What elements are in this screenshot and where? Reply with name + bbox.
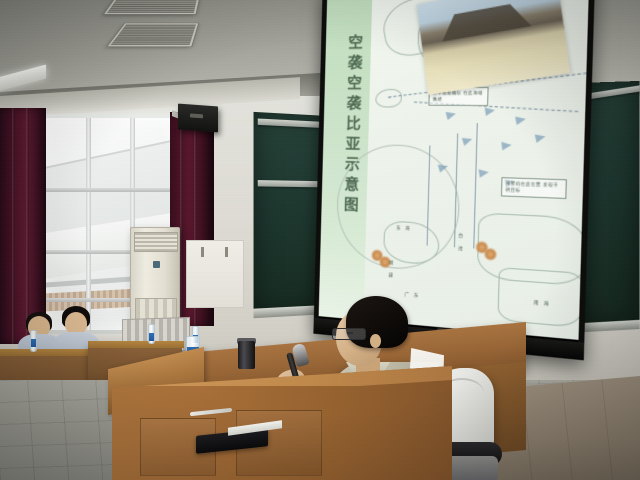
map-label: 福 建: [387, 260, 394, 279]
plane-icon: [479, 168, 490, 178]
plane-icon: [515, 115, 527, 125]
lecture-hall-photo: 空袭空袭比亚示意图: [0, 0, 640, 480]
map-label: 台 湾: [456, 233, 463, 253]
speaker-badge: [190, 113, 203, 118]
ac-display-icon: [153, 261, 160, 268]
bottle-label: [149, 333, 154, 341]
wall-speaker: [178, 104, 218, 133]
curtain-left: [0, 108, 46, 344]
plane-icon: [485, 106, 496, 116]
thermos[interactable]: [238, 341, 255, 369]
audience-desk-top: [0, 349, 102, 356]
photo-building-roof: [433, 0, 536, 43]
blast-icon: [484, 247, 498, 262]
plane-icon: [446, 109, 457, 120]
air-vent-icon: [104, 0, 200, 14]
air-vent-icon: [108, 23, 199, 46]
map-callout: 预警机在此位置 发现不明目标: [501, 177, 567, 199]
bottle-label: [31, 339, 36, 347]
map-label: 东 海: [396, 225, 411, 232]
hook-icon: [225, 247, 228, 257]
water-bottle[interactable]: [30, 330, 37, 352]
ac-vent-grille: [134, 232, 178, 252]
wall-control-panel[interactable]: [186, 240, 244, 308]
eyeglasses-icon: [332, 328, 366, 340]
audience-desk-top: [88, 341, 184, 348]
plane-icon: [501, 141, 512, 151]
map-label: 南 海: [533, 300, 550, 308]
presentation-slide: 空袭空袭比亚示意图: [319, 0, 589, 340]
presenter-ear: [370, 334, 381, 348]
plane-icon: [462, 135, 474, 146]
plane-icon: [535, 132, 547, 143]
water-bottle[interactable]: [148, 324, 155, 344]
hook-icon: [201, 247, 204, 257]
